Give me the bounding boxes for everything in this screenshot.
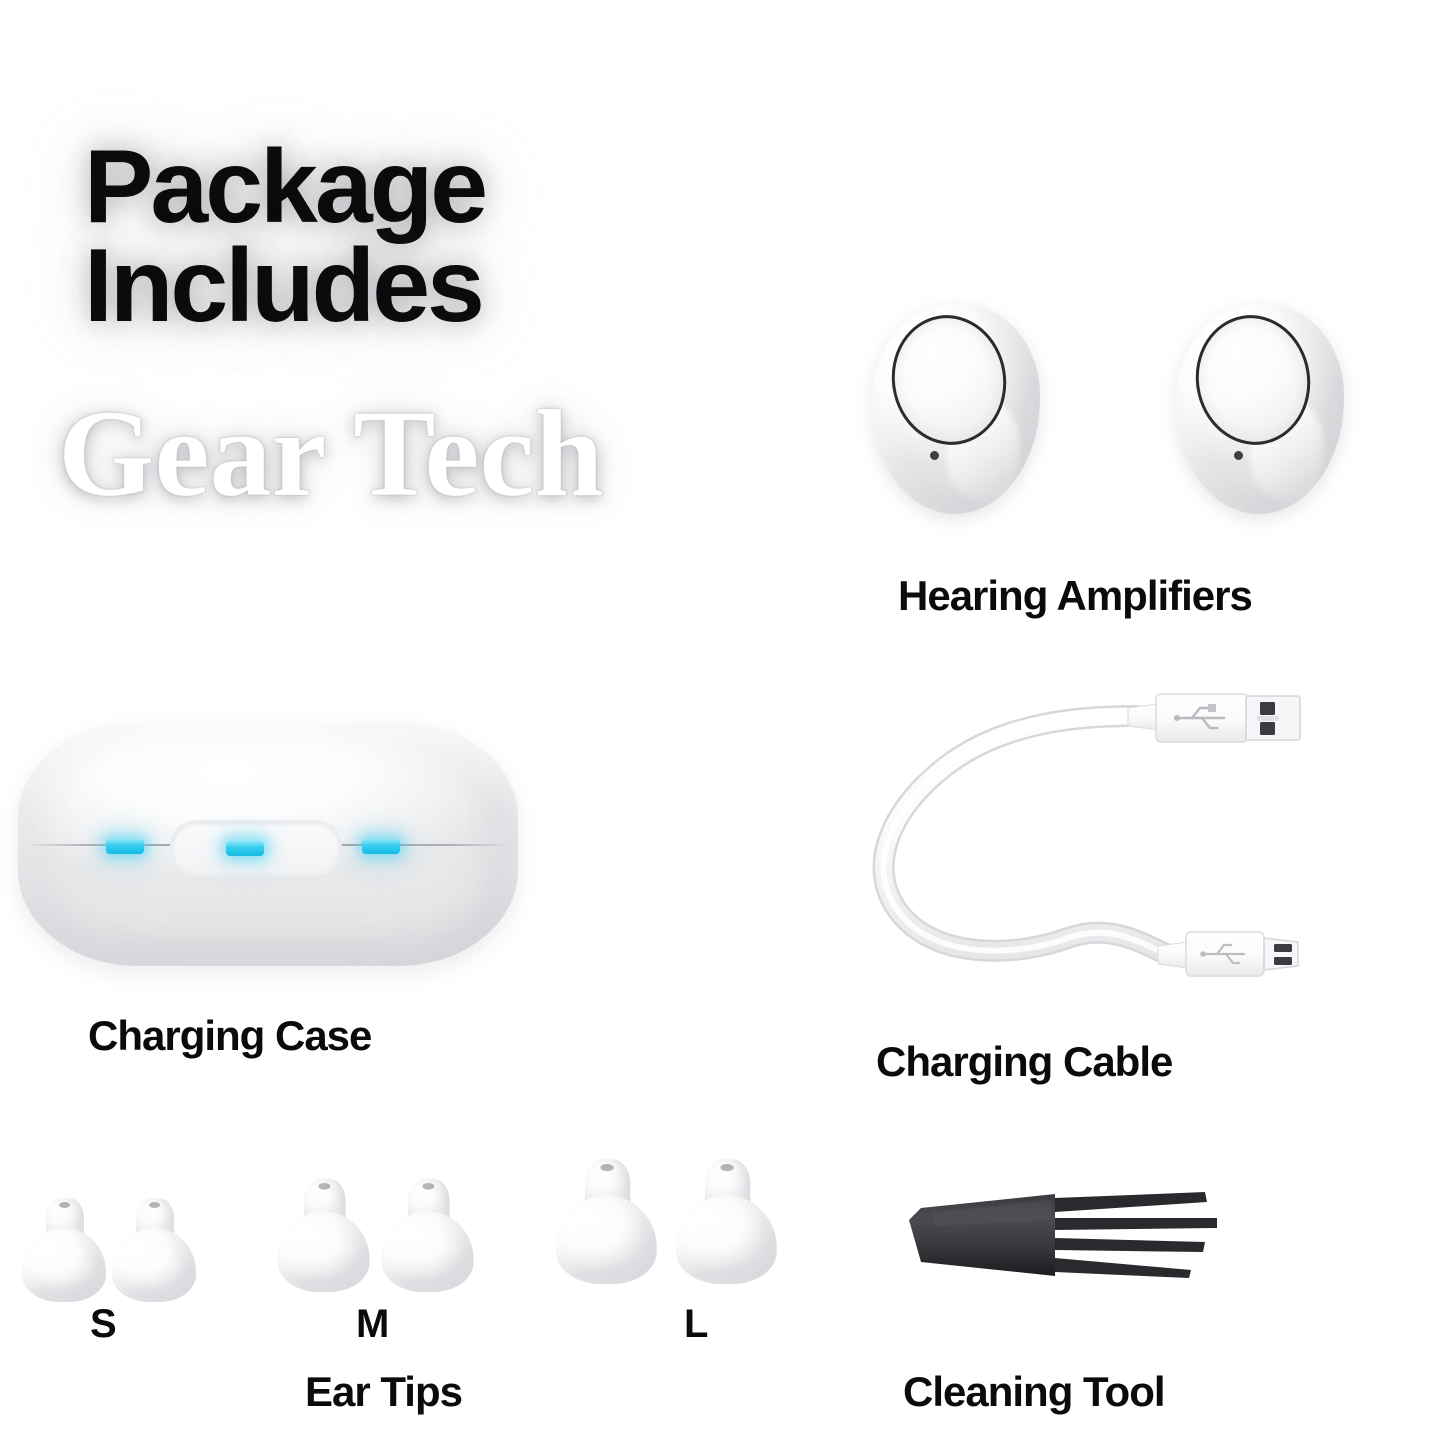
ear-tip-bore: [720, 1164, 733, 1171]
ear-tip-icon-l: [676, 1159, 777, 1284]
charging-case-led-3: [362, 839, 400, 854]
ear-tip-bore: [422, 1183, 434, 1190]
charging-case-led-1: [106, 839, 144, 854]
earbud-nozzle-tip: [1344, 378, 1374, 420]
earbuds-icon: [872, 304, 1068, 522]
ear-tip-icon-m: [382, 1179, 474, 1292]
size-label-l: L: [684, 1302, 708, 1347]
earbud-led-indicator: [930, 451, 939, 460]
label-hearing-amplifiers: Hearing Amplifiers: [898, 572, 1252, 620]
ear-tip-bore: [600, 1164, 613, 1171]
micro-usb-connector: [1158, 932, 1298, 976]
charging-case-icon: [18, 722, 518, 970]
ear-tip-icon-l: [556, 1159, 657, 1284]
earbuds-icon: [1176, 304, 1372, 522]
ear-tip-dome: [382, 1211, 474, 1292]
cleaning-tool-bristles: [1055, 1192, 1217, 1278]
earbud-nozzle-tip: [1040, 378, 1070, 420]
ear-tip-dome: [676, 1195, 777, 1284]
ear-tip-icon-s: [22, 1198, 106, 1302]
brand-watermark: Gear Tech: [58, 392, 603, 516]
size-label-m: M: [356, 1302, 389, 1347]
cleaning-brush-icon: [905, 1180, 1255, 1290]
label-ear-tips: Ear Tips: [305, 1368, 462, 1416]
ear-tip-dome: [278, 1211, 370, 1292]
page-title: Package Includes: [84, 138, 704, 336]
ear-tip-dome: [22, 1228, 106, 1302]
ear-tip-dome: [112, 1228, 196, 1302]
earbud-led-indicator: [1234, 451, 1243, 460]
ear-tip-icon-m: [278, 1179, 370, 1292]
ear-tip-dome: [556, 1195, 657, 1284]
charging-case-led-2: [226, 841, 264, 856]
label-charging-cable: Charging Cable: [876, 1038, 1172, 1086]
package-includes-infographic: Package Includes Gear Tech Hearing Ampli…: [0, 0, 1445, 1445]
size-label-s: S: [90, 1302, 117, 1347]
ear-tip-bore: [149, 1202, 160, 1208]
ear-tip-bore: [59, 1202, 70, 1208]
usb-a-connector: [1128, 694, 1300, 742]
label-cleaning-tool: Cleaning Tool: [903, 1368, 1165, 1416]
label-charging-case: Charging Case: [88, 1012, 371, 1060]
usb-cable-icon: [836, 668, 1306, 1008]
ear-tip-bore: [318, 1183, 330, 1190]
ear-tip-icon-s: [112, 1198, 196, 1302]
